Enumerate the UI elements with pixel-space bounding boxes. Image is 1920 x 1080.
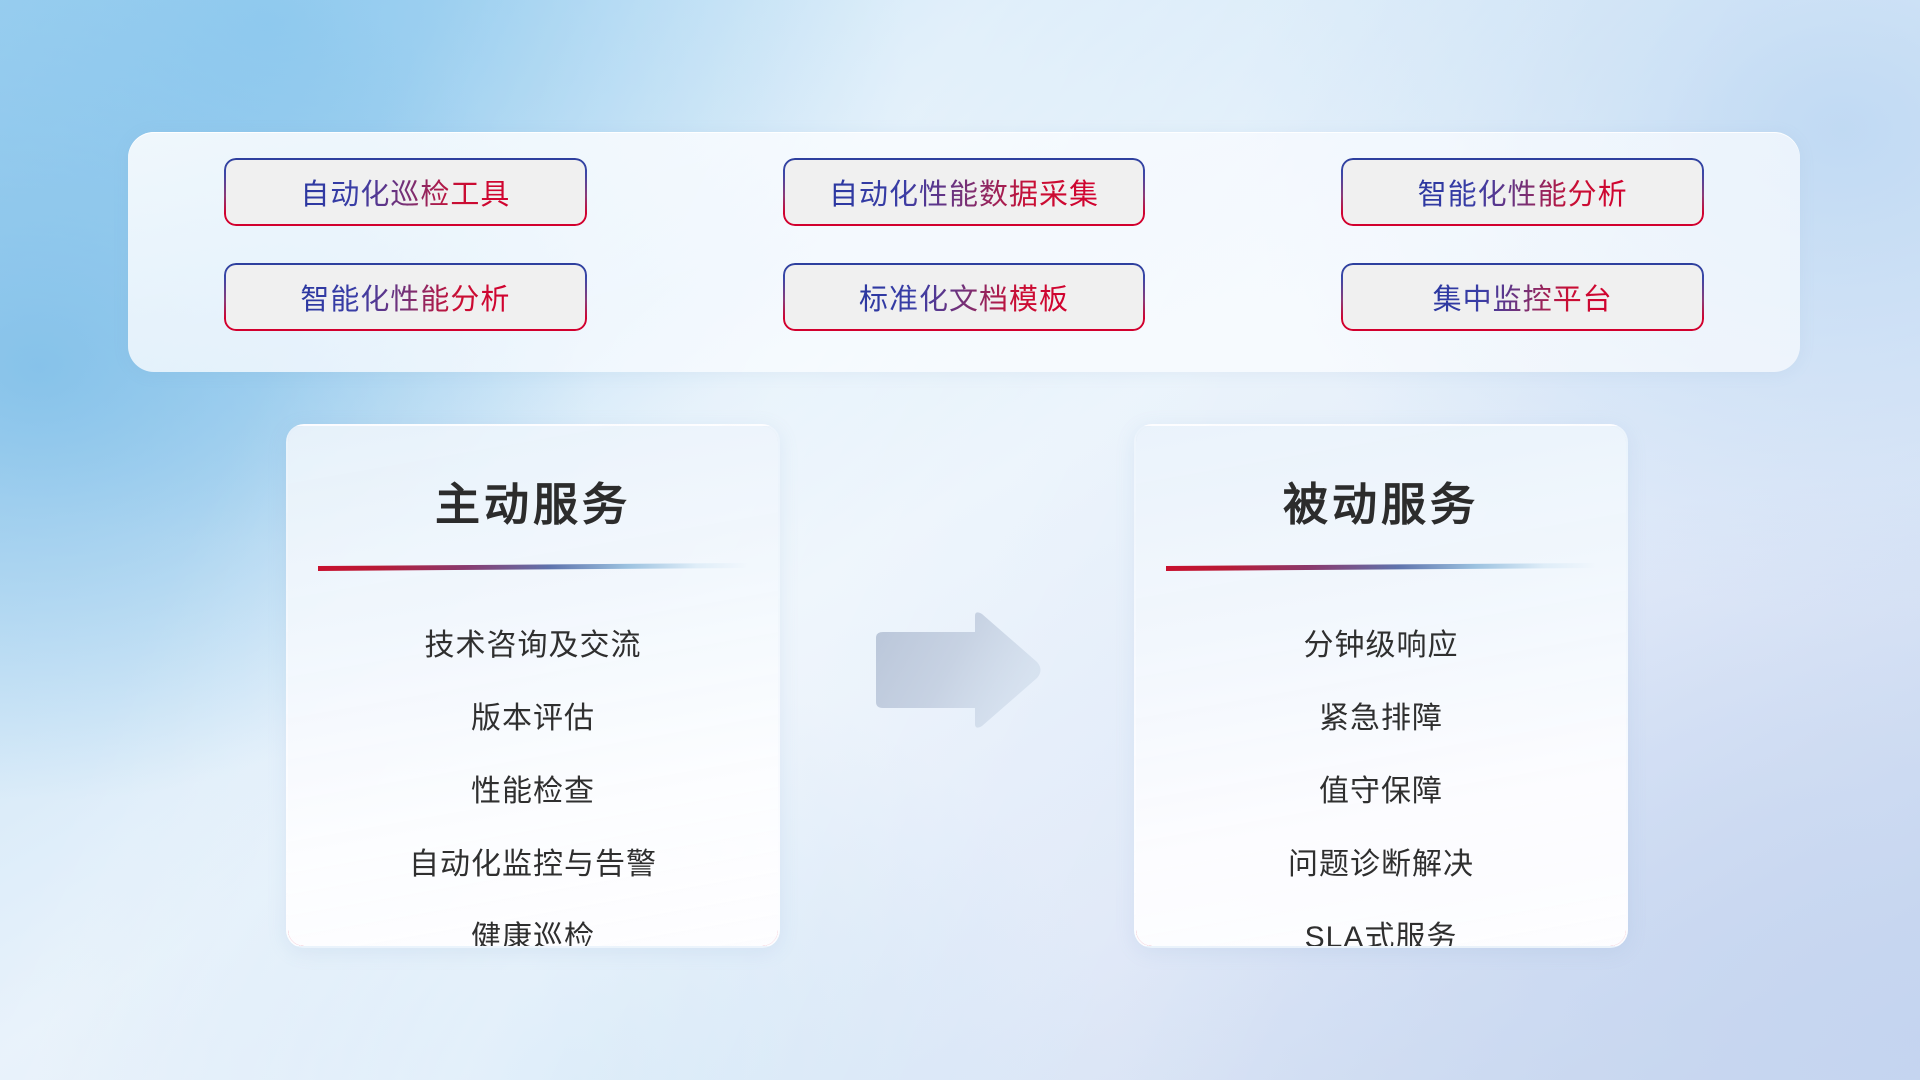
list-item: 健康巡检	[288, 901, 778, 948]
capability-chip-label: 标准化文档模板	[859, 276, 1069, 318]
list-item: 问题诊断解决	[1136, 828, 1626, 901]
capability-chip-label: 自动化巡检工具	[300, 171, 510, 213]
list-item: 紧急排障	[1136, 682, 1626, 755]
card-title: 被动服务	[1136, 468, 1626, 533]
capability-chip-label: 智能化性能分析	[300, 276, 510, 318]
service-card-proactive[interactable]: 主动服务 技术咨询及交流 版本评估 性能检查 自动化监控与告警 健康巡检	[286, 424, 780, 948]
capability-chip[interactable]: 智能化性能分析	[1341, 158, 1704, 226]
capability-chip[interactable]: 自动化巡检工具	[224, 158, 587, 226]
diagram-canvas: 自动化巡检工具 自动化性能数据采集 智能化性能分析 智能化性能分析 标准化文档模…	[0, 0, 1920, 1080]
capability-chip[interactable]: 集中监控平台	[1341, 263, 1704, 331]
card-item-list: 技术咨询及交流 版本评估 性能检查 自动化监控与告警 健康巡检	[288, 609, 778, 948]
card-divider	[1166, 563, 1596, 573]
card-item-list: 分钟级响应 紧急排障 值守保障 问题诊断解决 SLA式服务	[1136, 609, 1626, 948]
capability-chip-label: 自动化性能数据采集	[829, 171, 1099, 213]
capabilities-panel: 自动化巡检工具 自动化性能数据采集 智能化性能分析 智能化性能分析 标准化文档模…	[128, 132, 1800, 372]
list-item: 值守保障	[1136, 755, 1626, 828]
capability-chip[interactable]: 标准化文档模板	[783, 263, 1146, 331]
card-divider	[318, 563, 748, 573]
list-item: 性能检查	[288, 755, 778, 828]
list-item: SLA式服务	[1136, 901, 1626, 948]
capability-chip[interactable]: 智能化性能分析	[224, 263, 587, 331]
card-title: 主动服务	[288, 468, 778, 533]
list-item: 自动化监控与告警	[288, 828, 778, 901]
capability-chip-label: 集中监控平台	[1433, 276, 1613, 318]
list-item: 版本评估	[288, 682, 778, 755]
service-card-reactive[interactable]: 被动服务 分钟级响应 紧急排障 值守保障 问题诊断解决 SLA式服务	[1134, 424, 1628, 948]
list-item: 分钟级响应	[1136, 609, 1626, 682]
capability-chip[interactable]: 自动化性能数据采集	[783, 158, 1146, 226]
capability-chip-grid: 自动化巡检工具 自动化性能数据采集 智能化性能分析 智能化性能分析 标准化文档模…	[224, 158, 1704, 346]
list-item: 技术咨询及交流	[288, 609, 778, 682]
right-arrow-icon	[872, 610, 1042, 730]
capability-chip-label: 智能化性能分析	[1418, 171, 1628, 213]
